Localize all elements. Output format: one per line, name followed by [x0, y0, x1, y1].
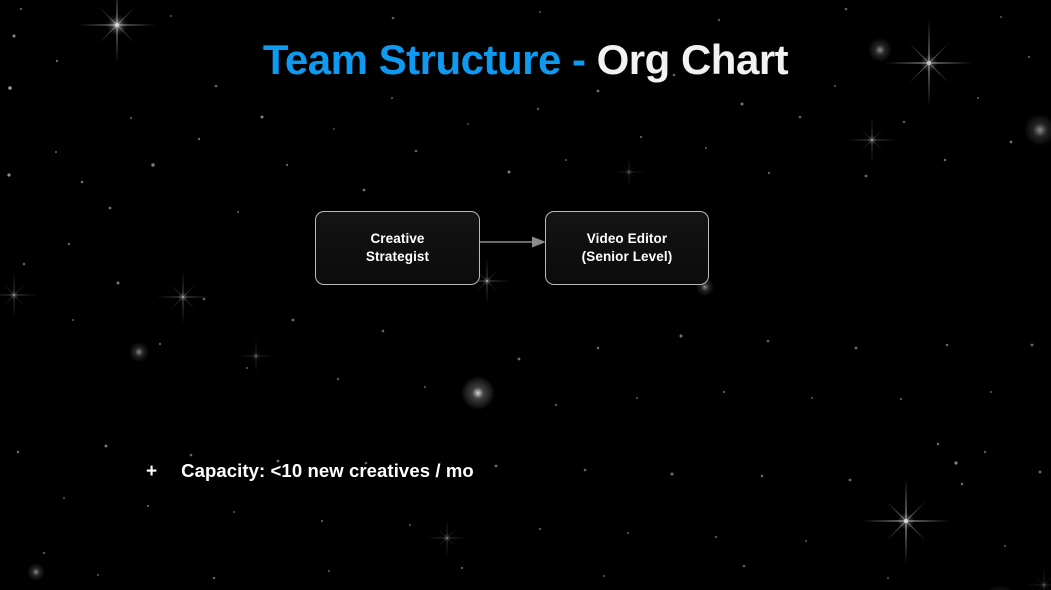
- capacity-text: Capacity: <10 new creatives / mo: [181, 458, 474, 484]
- org-node-line-1: Creative: [366, 230, 429, 248]
- star-glow: [461, 376, 495, 410]
- sparkle-star: [155, 269, 210, 324]
- sparkle-star: [426, 517, 467, 558]
- page-title-rest: Org Chart: [585, 36, 788, 83]
- star-field-points: [7, 8, 1041, 580]
- sparkle-star: [0, 271, 38, 319]
- sparkle-star: [1023, 564, 1051, 590]
- page-title-highlight: Team Structure -: [263, 36, 586, 83]
- org-node-creative-strategist[interactable]: Creative Strategist: [315, 211, 480, 285]
- org-node-line-1: Video Editor: [582, 230, 673, 248]
- org-node-label: Video Editor (Senior Level): [582, 230, 673, 266]
- star-glow: [106, 14, 128, 36]
- org-node-line-2: (Senior Level): [582, 248, 673, 266]
- org-node-line-2: Strategist: [366, 248, 429, 266]
- capacity-bullet-row: + Capacity: <10 new creatives / mo: [146, 458, 474, 485]
- sparkle-star: [862, 477, 949, 564]
- sparkle-star: [238, 338, 275, 375]
- page-title: Team Structure - Org Chart: [0, 36, 1051, 84]
- sparkle-star: [847, 115, 898, 166]
- star-glow: [27, 563, 45, 581]
- star-glow: [129, 342, 149, 362]
- plus-icon: +: [146, 459, 157, 485]
- org-chart: Creative Strategist Video Editor (Senior…: [0, 0, 1051, 590]
- sparkle-star: [612, 155, 647, 190]
- org-node-label: Creative Strategist: [366, 230, 429, 266]
- slide-canvas: Team Structure - Org Chart Creative Stra…: [0, 0, 1051, 590]
- org-node-video-editor[interactable]: Video Editor (Senior Level): [545, 211, 709, 285]
- starfield-background: [0, 0, 1051, 590]
- star-glow: [980, 585, 1020, 590]
- star-glow: [1024, 114, 1051, 146]
